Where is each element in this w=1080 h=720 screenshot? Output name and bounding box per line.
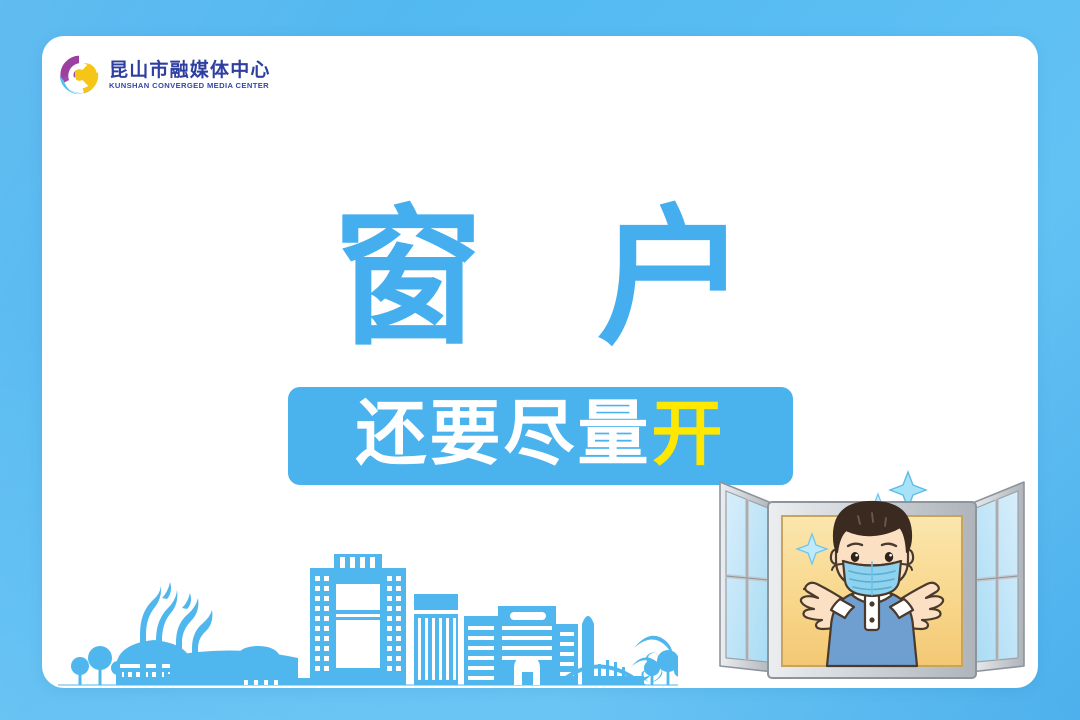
page-title: 窗 户: [42, 203, 1038, 353]
brand-name-cn: 昆山市融媒体中心: [109, 61, 271, 80]
subtitle-main: 还要尽量: [355, 395, 651, 474]
subtitle-banner-text: 还要尽量开: [355, 399, 725, 470]
boy-opening-window-illustration: [712, 458, 1032, 688]
poster-card: 昆山市融媒体中心 KUNSHAN CONVERGED MEDIA CENTER …: [42, 36, 1038, 688]
window-pane-right: [970, 482, 1024, 672]
brand-name-en: KUNSHAN CONVERGED MEDIA CENTER: [109, 82, 271, 90]
window-pane-left: [720, 482, 774, 672]
brand-logo: 昆山市融媒体中心 KUNSHAN CONVERGED MEDIA CENTER: [58, 54, 271, 96]
brand-logo-text: 昆山市融媒体中心 KUNSHAN CONVERGED MEDIA CENTER: [109, 61, 271, 90]
kunshan-media-circle-logo-icon: [58, 54, 100, 96]
kunshan-city-skyline-icon: [58, 528, 678, 688]
